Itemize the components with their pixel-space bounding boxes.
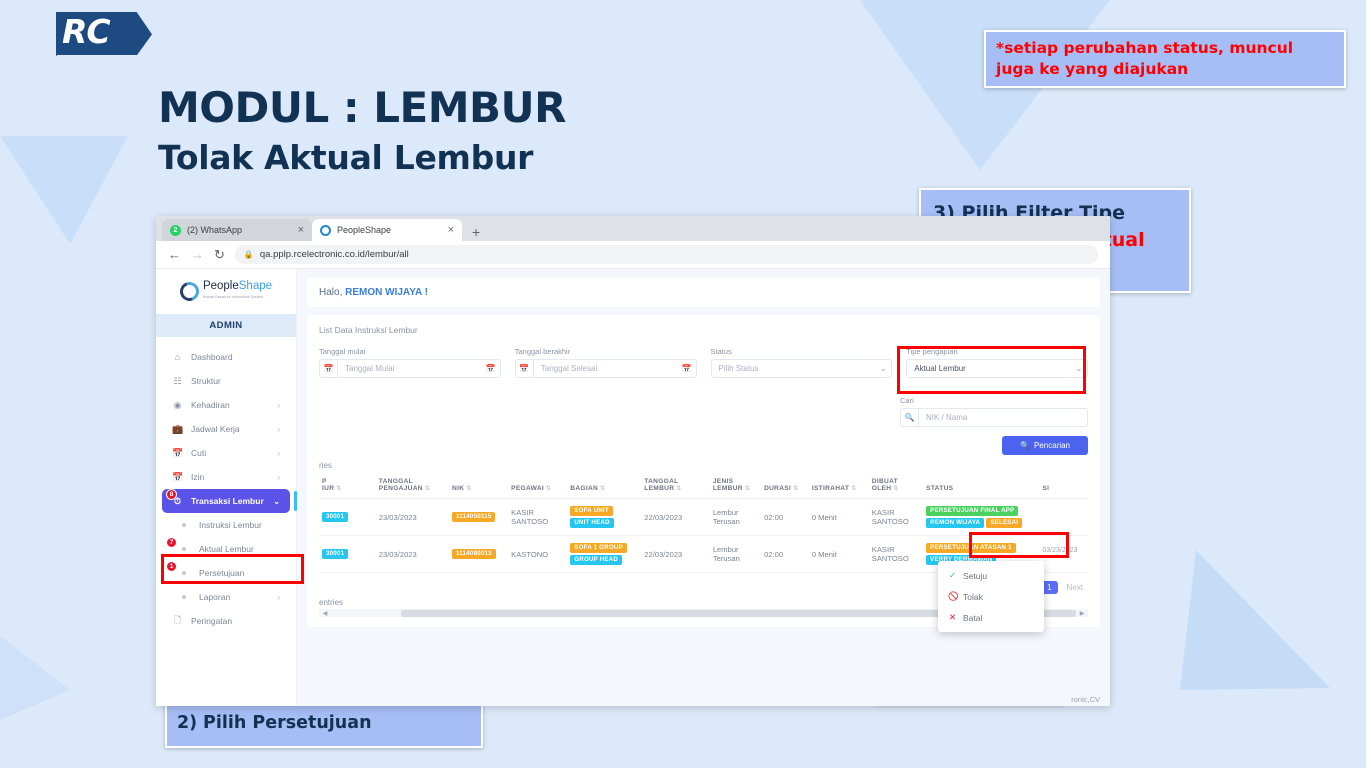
calendar-icon: 📅 (172, 448, 183, 459)
sidebar-item-kehadiran[interactable]: ◉ Kehadiran › (162, 393, 290, 417)
bagian-badge: UNIT HEAD (570, 518, 614, 528)
logo-badge: RC IT'S NOT JUST ABOUT THE CODE (56, 12, 152, 68)
cell-tanggal-lembur: 22/03/2023 (641, 499, 710, 536)
cell-tanggal-pengajuan: 23/03/2023 (376, 536, 449, 573)
field-label: Status (711, 347, 893, 356)
search-row: Cari 🔍 NIK / Nama 🔍 Pencarian (319, 396, 1088, 455)
action-label: Tolak (963, 592, 983, 602)
browser-tab-whatsapp[interactable]: 2 (2) WhatsApp × (162, 219, 312, 241)
filter-tipe-pengajuan: Tipe pengajuan Aktual Lembur ⌄ (906, 347, 1088, 378)
search-icon: 🔍 (1020, 441, 1030, 450)
chevron-right-icon: › (277, 425, 280, 434)
cell-pegawai: KASTONO (508, 536, 567, 573)
close-icon[interactable]: × (298, 225, 304, 236)
pagination-next[interactable]: Next (1062, 581, 1088, 594)
table-head: PIUR⇅ TANGGALPENGAJUAN⇅ NIK⇅ PEGAWAI⇅ BA… (319, 474, 1088, 499)
sidebar-item-label: Izin (191, 472, 269, 482)
entries-label-top: ries (319, 461, 1088, 470)
note-icon: 🗋 (172, 613, 183, 629)
url-input[interactable]: 🔒 qa.pplp.rcelectronic.co.id/lembur/all (235, 245, 1098, 264)
sidebar-item-aktual-lembur[interactable]: 7 Aktual Lembur (162, 537, 290, 561)
bagian-badge: SOFA UNIT (570, 506, 613, 516)
app-shell: PeopleShape Human Resource Information S… (156, 269, 1110, 706)
filter-tanggal-berakhir: Tanggal berakhir 📅 Tanggal Selesai 📅 (515, 347, 697, 378)
sidebar-item-label: Struktur (191, 376, 280, 386)
brand-name-1: People (203, 280, 239, 292)
slide-canvas: RC IT'S NOT JUST ABOUT THE CODE MODUL : … (0, 0, 1366, 768)
status-select[interactable]: Pilih Status ⌄ (711, 359, 893, 378)
app-footer: ronic,CV (1071, 695, 1100, 704)
bagian-badge: GROUP HEAD (570, 555, 622, 565)
cell-dibuat-oleh: KASIR SANTOSO (869, 536, 923, 573)
notification-badge: 1 (166, 561, 177, 572)
status-badge: REMON WIJAYA (926, 518, 984, 528)
cell-istirahat: 0 Menit (809, 499, 869, 536)
cell-jenis-lembur: Lembur Terusan (710, 536, 761, 573)
sidebar-item-struktur[interactable]: ☷ Struktur (162, 369, 290, 393)
role-label: ADMIN (156, 314, 296, 337)
chevron-down-icon: ⌄ (1071, 364, 1087, 373)
cell-kode: 30001 (319, 499, 376, 536)
cell-tanggal-lembur: 22/03/2023 (641, 536, 710, 573)
presentation-controls: ◁ ▷ ✎ ⌸ ⌕ ▭ ◸ ••• (0, 725, 1366, 768)
aksi-date: 03/23/2023 (1042, 547, 1077, 554)
check-icon: ✓ (948, 570, 957, 581)
calendar-picker-icon[interactable]: 📅 (678, 364, 696, 373)
browser-tabstrip: 2 (2) WhatsApp × PeopleShape × + (156, 216, 1110, 241)
row-actions-menu: ✓ Setuju 🚫 Tolak ✕ Batal (938, 561, 1044, 632)
col-istirahat[interactable]: ISTIRAHAT⇅ (809, 474, 869, 499)
calendar-icon: 📅 (516, 360, 534, 377)
input-placeholder: NIK / Nama (919, 413, 1087, 422)
action-setuju[interactable]: ✓ Setuju (938, 565, 1044, 586)
sort-icon: ⇅ (676, 486, 681, 492)
cell-istirahat: 0 Menit (809, 536, 869, 573)
x-icon: ✕ (948, 612, 957, 623)
sidebar-item-izin[interactable]: 📅 Izin › (162, 465, 290, 489)
calendar-icon: 📅 (172, 472, 183, 483)
col-tanggal-lembur[interactable]: TANGGALLEMBUR⇅ (641, 474, 710, 499)
sort-icon: ⇅ (851, 486, 856, 492)
home-icon: ⌂ (172, 352, 183, 362)
col-jenis-lembur[interactable]: JENISLEMBUR⇅ (710, 474, 761, 499)
col-durasi[interactable]: DURASI⇅ (761, 474, 809, 499)
chevron-down-icon: ⌄ (273, 497, 280, 506)
cell-nik: 1114050115 (449, 499, 508, 536)
spacer (319, 396, 900, 455)
sitemap-icon: ☷ (172, 376, 183, 387)
tipe-pengajuan-select[interactable]: Aktual Lembur ⌄ (906, 359, 1088, 378)
col-nik[interactable]: NIK⇅ (449, 474, 508, 499)
kode-badge: 30001 (322, 549, 348, 559)
url-text: qa.pplp.rcelectronic.co.id/lembur/all (260, 249, 409, 260)
scroll-left-icon[interactable]: ◀ (319, 610, 331, 617)
dot-icon (182, 547, 186, 551)
chevron-right-icon: › (277, 473, 280, 482)
sidebar-item-peringatan[interactable]: 🗋 Peringatan (162, 609, 290, 633)
browser-urlbar: ← → ↻ 🔒 qa.pplp.rcelectronic.co.id/lembu… (156, 241, 1110, 269)
cell-dibuat-oleh: KASIR SANTOSO (869, 499, 923, 536)
calendar-icon: 📅 (320, 360, 338, 377)
ban-icon: 🚫 (948, 591, 957, 602)
filters-row: Tanggal mulai 📅 Tanggal Mulai 📅 Tanggal … (319, 347, 1088, 378)
rc-logo: RC IT'S NOT JUST ABOUT THE CODE (56, 12, 162, 68)
sort-icon: ⇅ (600, 486, 605, 492)
input-placeholder: Tanggal Selesai (534, 364, 678, 373)
brand-subtitle: Human Resource Information System (203, 292, 272, 303)
cell-tanggal-pengajuan: 23/03/2023 (376, 499, 449, 536)
cell-jenis-lembur: Lembur Terusan (710, 499, 761, 536)
col-pegawai[interactable]: PEGAWAI⇅ (508, 474, 567, 499)
col-dibuat-oleh[interactable]: DIBUATOLEH⇅ (869, 474, 923, 499)
sidebar-item-label: Jadwal Kerja (191, 424, 269, 434)
status-badge: PERSETUJUAN ATASAN 1 (926, 543, 1016, 553)
action-batal[interactable]: ✕ Batal (938, 607, 1044, 628)
bagian-badge: SOFA 1 GROUP (570, 543, 627, 553)
sort-icon: ⇅ (546, 486, 551, 492)
chevron-right-icon: › (277, 449, 280, 458)
sidebar-item-label: Dashboard (191, 352, 280, 362)
greeting-prefix: Halo, (319, 287, 345, 298)
table-header-row: PIUR⇅ TANGGALPENGAJUAN⇅ NIK⇅ PEGAWAI⇅ BA… (319, 474, 1088, 499)
slide-title: MODUL : LEMBUR (158, 84, 566, 132)
kode-badge: 30001 (322, 512, 348, 522)
sort-icon: ⇅ (466, 486, 471, 492)
chevron-right-icon: › (277, 593, 280, 602)
app-logo: PeopleShape Human Resource Information S… (156, 269, 296, 314)
notification-badge: 7 (166, 537, 177, 548)
logo-tagline: IT'S NOT JUST ABOUT THE CODE (56, 54, 140, 66)
search-button-label: Pencarian (1034, 441, 1070, 450)
input-placeholder: Tanggal Mulai (338, 364, 482, 373)
sort-icon: ⇅ (745, 486, 750, 492)
tab-title: PeopleShape (337, 225, 442, 235)
field-label: Tanggal berakhir (515, 347, 697, 356)
search-button[interactable]: 🔍 Pencarian (1002, 436, 1088, 455)
back-icon[interactable]: ← (168, 248, 181, 261)
field-label: Tanggal mulai (319, 347, 501, 356)
cell-aksi[interactable]: 03/23/2023 ⋮ (1039, 536, 1088, 573)
sidebar-item-label: Persetujuan (199, 568, 280, 578)
search-block: Cari 🔍 NIK / Nama 🔍 Pencarian (900, 396, 1088, 455)
browser-window: 2 (2) WhatsApp × PeopleShape × + ← → ↻ 🔒… (156, 216, 1110, 706)
table-row[interactable]: 30001 23/03/2023 1114050115 KASIR SANTOS… (319, 499, 1088, 536)
col-aksi[interactable]: SI (1039, 474, 1088, 499)
sort-icon: ⇅ (793, 486, 798, 492)
forward-icon[interactable]: → (191, 248, 204, 261)
cell-durasi: 02:00 (761, 499, 809, 536)
select-value: Aktual Lembur (907, 364, 1071, 373)
sidebar-item-label: Aktual Lembur (199, 544, 280, 554)
sidebar-item-laporan[interactable]: Laporan › (162, 585, 290, 609)
filter-tanggal-mulai: Tanggal mulai 📅 Tanggal Mulai 📅 (319, 347, 501, 378)
calendar-picker-icon[interactable]: 📅 (482, 364, 500, 373)
lock-icon: 🔒 (244, 250, 254, 259)
cell-bagian: SOFA UNIT UNIT HEAD (567, 499, 641, 536)
sidebar-item-dashboard[interactable]: ⌂ Dashboard (162, 345, 290, 369)
cell-aksi[interactable] (1039, 499, 1088, 536)
sidebar-item-persetujuan[interactable]: 1 Persetujuan (162, 561, 290, 585)
cell-kode: 30001 (319, 536, 376, 573)
search-input[interactable]: 🔍 NIK / Nama (900, 408, 1088, 427)
dot-icon (182, 571, 186, 575)
tab-title: (2) WhatsApp (187, 225, 292, 235)
sort-icon: ⇅ (893, 486, 898, 492)
date-input-start[interactable]: 📅 Tanggal Mulai 📅 (319, 359, 501, 378)
sidebar-item-transaksi-lembur[interactable]: 8 ⏱ Transaksi Lembur ⌄ (162, 489, 290, 513)
col-kode[interactable]: PIUR⇅ (319, 474, 376, 499)
chevron-right-icon: › (277, 401, 280, 410)
sidebar-menu: ⌂ Dashboard ☷ Struktur ◉ Kehadiran › 💼 (156, 337, 296, 633)
dot-icon (182, 595, 186, 599)
cell-pegawai: KASIR SANTOSO (508, 499, 567, 536)
kebab-menu-icon[interactable]: ⋮ (1042, 555, 1049, 562)
browser-tab-peopleshape[interactable]: PeopleShape × (312, 219, 462, 241)
scroll-right-icon[interactable]: ▶ (1076, 610, 1088, 617)
peopleshape-icon (320, 225, 331, 236)
scroll-track-left (331, 610, 401, 617)
greeting-bar: Halo, REMON WIJAYA ! (307, 278, 1100, 307)
sidebar: PeopleShape Human Resource Information S… (156, 269, 297, 706)
search-icon: 🔍 (901, 409, 919, 426)
date-input-end[interactable]: 📅 Tanggal Selesai 📅 (515, 359, 697, 378)
brand-text: PeopleShape Human Resource Information S… (203, 281, 272, 303)
chevron-down-icon: ⌄ (875, 364, 891, 373)
col-tanggal-pengajuan[interactable]: TANGGALPENGAJUAN⇅ (376, 474, 449, 499)
main-content: Halo, REMON WIJAYA ! List Data Instruksi… (297, 269, 1110, 706)
new-tab-button[interactable]: + (462, 225, 490, 241)
field-label: Cari (900, 396, 1088, 405)
fingerprint-icon: ◉ (172, 400, 183, 411)
field-label: Tipe pengajuan (906, 347, 1088, 356)
status-badge: PERSETUJUAN FINAL APP (926, 506, 1018, 516)
col-status[interactable]: STATUS (923, 474, 1039, 499)
action-label: Batal (963, 613, 982, 623)
action-tolak[interactable]: 🚫 Tolak (938, 586, 1044, 607)
brand-name-2: Shape (239, 280, 272, 292)
data-table: PIUR⇅ TANGGALPENGAJUAN⇅ NIK⇅ PEGAWAI⇅ BA… (319, 474, 1088, 573)
briefcase-icon: 💼 (172, 424, 183, 435)
nik-badge: 1114080013 (452, 549, 496, 559)
slide-subtitle: Tolak Aktual Lembur (158, 137, 533, 179)
reload-icon[interactable]: ↻ (214, 248, 225, 261)
sidebar-item-label: Peringatan (191, 616, 280, 626)
dot-icon (182, 523, 186, 527)
card-title: List Data Instruksi Lembur (319, 325, 1088, 335)
peopleshape-ring-icon (177, 279, 202, 304)
action-label: Setuju (963, 571, 987, 581)
col-bagian[interactable]: BAGIAN⇅ (567, 474, 641, 499)
whatsapp-icon: 2 (170, 225, 181, 236)
status-badge: SELESAI (986, 518, 1022, 528)
sidebar-item-cuti[interactable]: 📅 Cuti › (162, 441, 290, 465)
cell-nik: 1114080013 (449, 536, 508, 573)
logo-mark: RC (62, 15, 110, 48)
sidebar-item-label: Cuti (191, 448, 269, 458)
sidebar-item-label: Kehadiran (191, 400, 269, 410)
sidebar-item-jadwal-kerja[interactable]: 💼 Jadwal Kerja › (162, 417, 290, 441)
filter-status: Status Pilih Status ⌄ (711, 347, 893, 378)
cell-status: PERSETUJUAN FINAL APP REMON WIJAYA SELES… (923, 499, 1039, 536)
notification-badge: 8 (166, 489, 177, 500)
select-value: Pilih Status (712, 364, 876, 373)
greeting-user: REMON WIJAYA ! (345, 287, 428, 298)
nik-badge: 1114050115 (452, 512, 495, 522)
sort-icon: ⇅ (336, 486, 341, 492)
sidebar-item-label: Instruksi Lembur (199, 520, 280, 530)
sidebar-item-instruksi-lembur[interactable]: Instruksi Lembur (162, 513, 290, 537)
callout-status-note: *setiap perubahan status, muncul juga ke… (984, 30, 1346, 88)
cell-durasi: 02:00 (761, 536, 809, 573)
close-icon[interactable]: × (448, 225, 454, 236)
sort-icon: ⇅ (425, 486, 430, 492)
sidebar-item-label: Transaksi Lembur (191, 496, 265, 506)
cell-bagian: SOFA 1 GROUP GROUP HEAD (567, 536, 641, 573)
sidebar-item-label: Laporan (199, 592, 269, 602)
